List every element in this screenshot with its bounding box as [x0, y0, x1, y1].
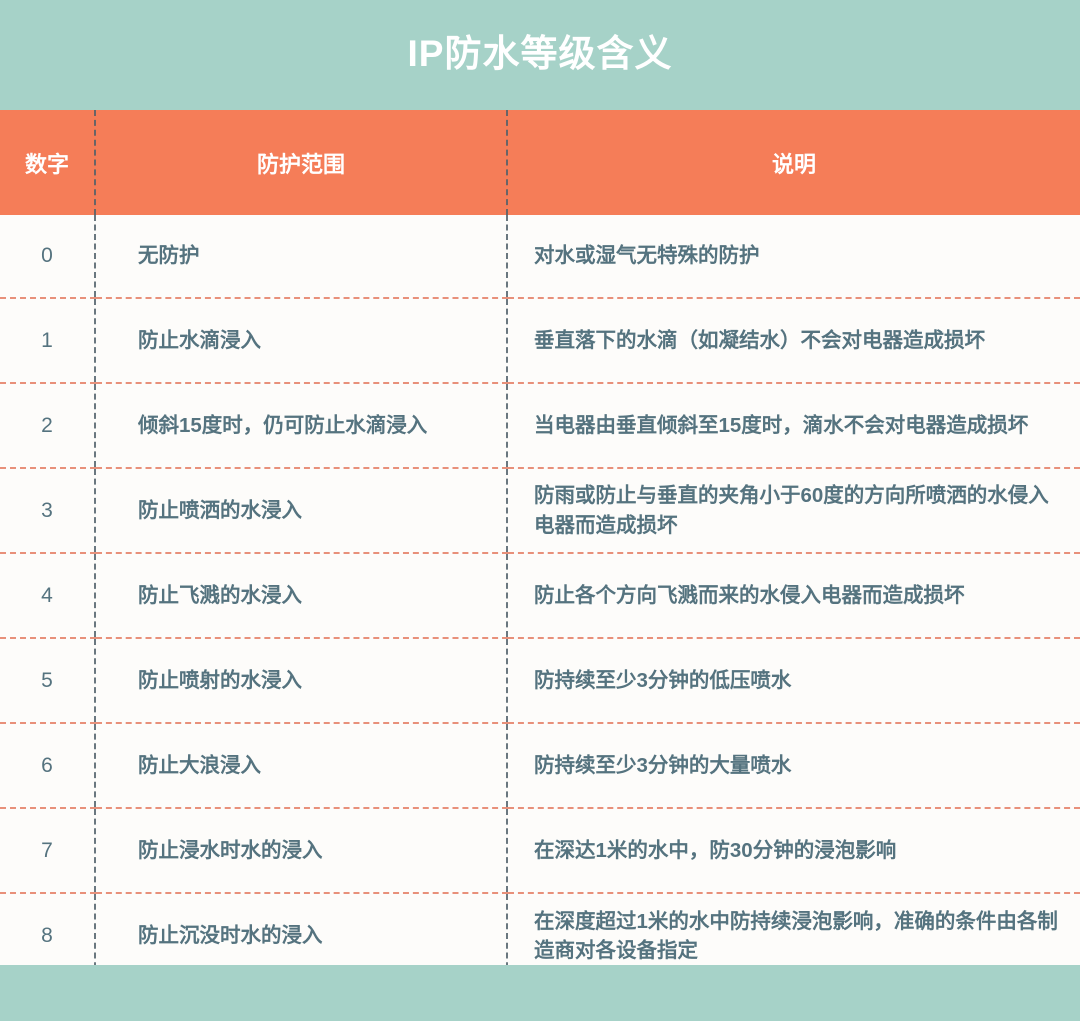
column-header-description: 说明	[507, 110, 1080, 215]
cell-scope: 防止飞溅的水浸入	[95, 553, 507, 638]
cell-number: 0	[0, 215, 95, 298]
table-body: 0 无防护 对水或湿气无特殊的防护 1 防止水滴浸入 垂直落下的水滴（如凝结水）…	[0, 215, 1080, 978]
cell-description: 对水或湿气无特殊的防护	[507, 215, 1080, 298]
title-band: IP防水等级含义	[0, 0, 1080, 110]
cell-number: 6	[0, 723, 95, 808]
cell-number: 3	[0, 468, 95, 553]
column-header-scope: 防护范围	[95, 110, 507, 215]
cell-number: 1	[0, 298, 95, 383]
cell-scope: 防止喷射的水浸入	[95, 638, 507, 723]
cell-description: 当电器由垂直倾斜至15度时，滴水不会对电器造成损坏	[507, 383, 1080, 468]
cell-scope: 防止喷洒的水浸入	[95, 468, 507, 553]
cell-description: 防止各个方向飞溅而来的水侵入电器而造成损坏	[507, 553, 1080, 638]
table-row: 7 防止浸水时水的浸入 在深达1米的水中，防30分钟的浸泡影响	[0, 808, 1080, 893]
cell-scope: 防止浸水时水的浸入	[95, 808, 507, 893]
cell-description: 防雨或防止与垂直的夹角小于60度的方向所喷洒的水侵入电器而造成损坏	[507, 468, 1080, 553]
table-row: 5 防止喷射的水浸入 防持续至少3分钟的低压喷水	[0, 638, 1080, 723]
cell-scope: 无防护	[95, 215, 507, 298]
table-row: 1 防止水滴浸入 垂直落下的水滴（如凝结水）不会对电器造成损坏	[0, 298, 1080, 383]
ip-rating-table: 数字 防护范围 说明 0 无防护 对水或湿气无特殊的防护 1 防止水滴浸入 垂直…	[0, 110, 1080, 978]
table-header-row: 数字 防护范围 说明	[0, 110, 1080, 215]
table-row: 4 防止飞溅的水浸入 防止各个方向飞溅而来的水侵入电器而造成损坏	[0, 553, 1080, 638]
page-title: IP防水等级含义	[408, 35, 673, 72]
footer-band	[0, 965, 1080, 1021]
cell-number: 2	[0, 383, 95, 468]
cell-description: 防持续至少3分钟的低压喷水	[507, 638, 1080, 723]
cell-number: 7	[0, 808, 95, 893]
table-header: 数字 防护范围 说明	[0, 110, 1080, 215]
cell-number: 4	[0, 553, 95, 638]
cell-scope: 防止水滴浸入	[95, 298, 507, 383]
cell-number: 5	[0, 638, 95, 723]
cell-description: 防持续至少3分钟的大量喷水	[507, 723, 1080, 808]
cell-scope: 倾斜15度时，仍可防止水滴浸入	[95, 383, 507, 468]
ip-rating-infographic: IP防水等级含义 数字 防护范围 说明 0 无防护 对水或湿气无特殊的防护 1 …	[0, 0, 1080, 1021]
column-header-number: 数字	[0, 110, 95, 215]
table-row: 2 倾斜15度时，仍可防止水滴浸入 当电器由垂直倾斜至15度时，滴水不会对电器造…	[0, 383, 1080, 468]
cell-description: 在深达1米的水中，防30分钟的浸泡影响	[507, 808, 1080, 893]
table-row: 0 无防护 对水或湿气无特殊的防护	[0, 215, 1080, 298]
table-row: 6 防止大浪浸入 防持续至少3分钟的大量喷水	[0, 723, 1080, 808]
table-row: 3 防止喷洒的水浸入 防雨或防止与垂直的夹角小于60度的方向所喷洒的水侵入电器而…	[0, 468, 1080, 553]
cell-description: 垂直落下的水滴（如凝结水）不会对电器造成损坏	[507, 298, 1080, 383]
cell-scope: 防止大浪浸入	[95, 723, 507, 808]
